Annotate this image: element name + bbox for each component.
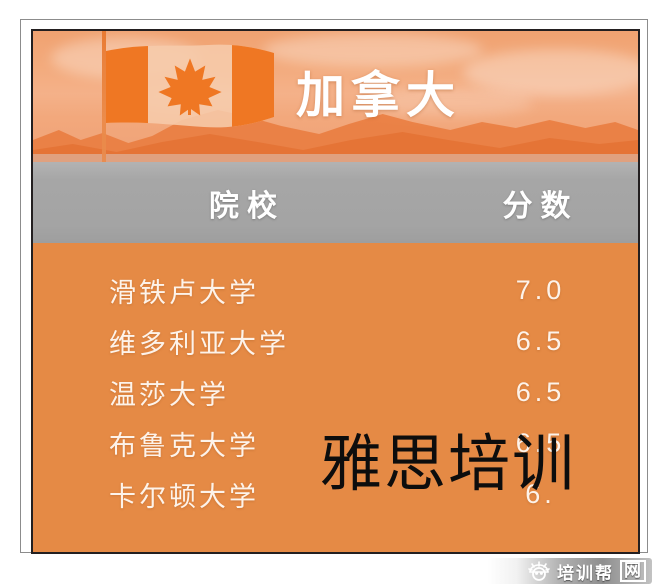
watermark-boxed-label: 网 — [620, 560, 646, 582]
cell-score: 7.0 — [443, 275, 638, 306]
watermark-label: 培训帮 — [557, 559, 614, 584]
cell-score: 6.5 — [443, 377, 638, 408]
cell-score: 6.5 — [443, 326, 638, 357]
table-row: 温莎大学 6.5 — [33, 367, 638, 418]
column-header-school: 院校 — [33, 181, 443, 225]
cell-school: 维多利亚大学 — [33, 322, 443, 361]
overlay-caption: 雅思培训 — [320, 434, 576, 496]
cell-school: 滑铁卢大学 — [33, 271, 443, 310]
watermark-strip: 培训帮 网 — [0, 558, 664, 586]
watermark: 培训帮 网 — [487, 558, 652, 584]
table-header-band: 院校 分数 — [33, 162, 638, 243]
banner: 加拿大 — [33, 31, 638, 162]
table-body: 滑铁卢大学 7.0 维多利亚大学 6.5 温莎大学 6.5 布鲁克大学 6.5 … — [33, 243, 638, 552]
banner-title-text: 加拿大 — [296, 72, 461, 121]
column-header-score: 分数 — [443, 181, 638, 225]
table-row: 滑铁卢大学 7.0 — [33, 265, 638, 316]
sun-face-icon — [527, 561, 551, 581]
cell-school: 温莎大学 — [33, 373, 443, 412]
table-row: 维多利亚大学 6.5 — [33, 316, 638, 367]
banner-title: 加拿大 — [33, 31, 638, 162]
